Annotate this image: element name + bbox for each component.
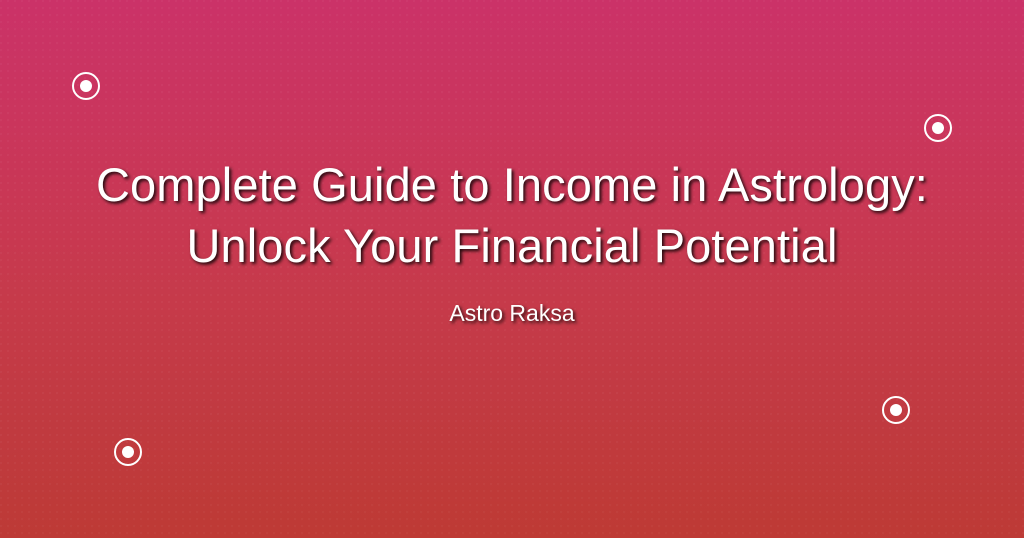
banner-content: Complete Guide to Income in Astrology:Un… bbox=[0, 0, 1024, 510]
page-title: Complete Guide to Income in Astrology:Un… bbox=[96, 154, 928, 276]
page-title-line-1: Complete Guide to Income in Astrology: bbox=[96, 158, 928, 211]
article-title-banner: Complete Guide to Income in Astrology:Un… bbox=[0, 0, 1024, 538]
page-subtitle: Astro Raksa bbox=[449, 300, 574, 328]
page-title-line-2: Unlock Your Financial Potential bbox=[186, 219, 837, 272]
